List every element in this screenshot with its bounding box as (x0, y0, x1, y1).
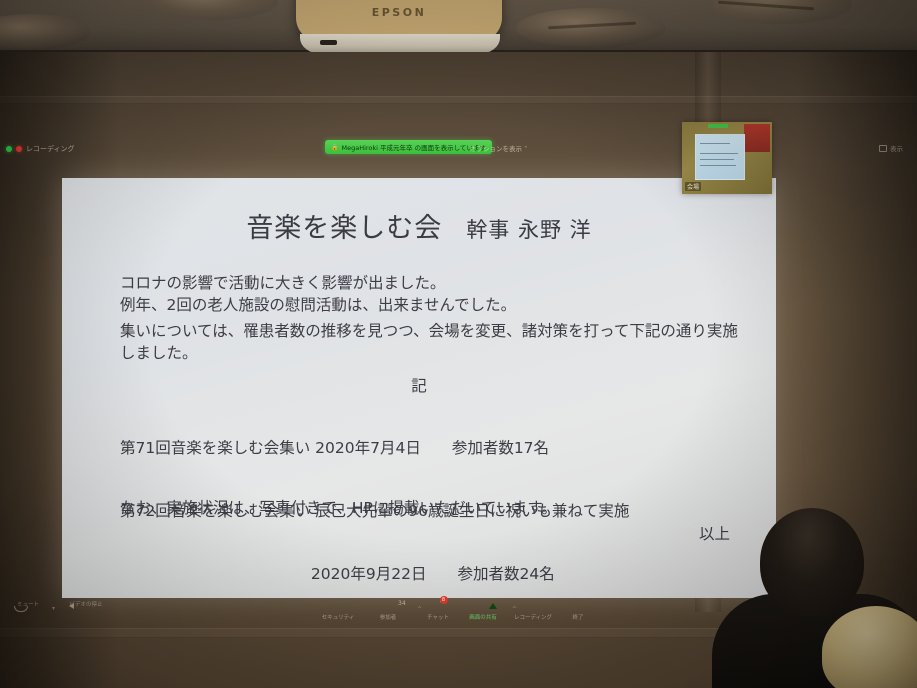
chat-unread-badge: 8 (440, 596, 448, 604)
security-button-label: セキュリティ (322, 615, 355, 621)
show-options-button[interactable]: オプションを表示 ˅ (470, 143, 527, 153)
chat-button-label: チャット (427, 615, 449, 621)
slide-title-main: 音楽を楽しむ会 (246, 213, 442, 244)
shield-icon (332, 600, 345, 613)
participants-button[interactable]: 参加者 (360, 600, 416, 622)
participants-button-label: 参加者 (380, 615, 397, 621)
share-screen-button[interactable]: 画面の共有 (455, 600, 511, 622)
mic-chevron-down-icon[interactable]: ▾ (52, 605, 55, 612)
list-item: 2020年9月22日 参加者数24名 (120, 564, 629, 585)
projector-lens (320, 40, 337, 45)
thumbnail-participant-name: 会場 (685, 182, 701, 191)
slide-title: 音楽を楽しむ会幹事 永野 洋 (62, 206, 776, 245)
participants-count: 34 (398, 600, 406, 607)
recording-indicator[interactable]: レコーディング (6, 144, 75, 154)
lock-icon: 🔒 (331, 144, 338, 151)
view-button-label: 表示 (890, 143, 903, 153)
slide-paragraph: コロナの影響で活動に大きく影響が出ました。 (120, 272, 746, 294)
thumbnail-background-object (744, 124, 770, 152)
participants-icon (382, 600, 395, 613)
audience-head (822, 606, 917, 688)
zoom-top-bar: レコーディング 🔒 MegaHiroki 平成元年卒 の画面を表示しています オ… (0, 137, 917, 161)
share-screen-button-label: 画面の共有 (469, 615, 497, 621)
thumbnail-inner-slide (695, 134, 745, 180)
security-button[interactable]: セキュリティ (310, 600, 366, 622)
presentation-slide: 音楽を楽しむ会幹事 永野 洋 コロナの影響で活動に大きく影響が出ました。 例年、… (62, 178, 776, 598)
projector-brand-label: EPSON (296, 6, 502, 19)
audience-member (822, 606, 917, 688)
stop-video-button[interactable]: ビデオの停止 (62, 600, 110, 608)
record-icon (527, 600, 540, 613)
slide-paragraph: 集いについては、罹患者数の推移を見つつ、会場を変更、諸対策を打って下記の通り実施… (120, 320, 746, 364)
chat-icon: 8 (432, 600, 445, 613)
screen-share-banner: 🔒 MegaHiroki 平成元年卒 の画面を表示しています (325, 140, 492, 154)
recording-label: レコーディング (26, 144, 75, 154)
slide-note: なお、実施状況は、写真付きで、HPに掲載いただいています。 (120, 496, 557, 518)
slide-content: 音楽を楽しむ会幹事 永野 洋 コロナの影響で活動に大きく影響が出ました。 例年、… (62, 178, 776, 598)
slide-ki-heading: 記 (62, 374, 776, 396)
ceiling-light-fixture (516, 8, 666, 48)
view-button[interactable]: 表示 (879, 143, 903, 153)
list-item: 第71回音楽を楽しむ会集い 2020年7月4日 参加者数17名 (120, 438, 629, 459)
end-icon (572, 600, 585, 613)
mute-button[interactable]: ミュート (4, 600, 52, 608)
end-meeting-button[interactable]: 終了 (550, 600, 606, 622)
participant-video-thumbnail[interactable]: 会場 (682, 122, 772, 194)
record-button-label: レコーディング (514, 615, 552, 621)
share-screen-icon (477, 600, 490, 613)
screen-share-banner-label: MegaHiroki 平成元年卒 の画面を表示しています (341, 142, 485, 152)
grid-view-icon (879, 145, 887, 152)
end-meeting-button-label: 終了 (572, 615, 583, 621)
thumbnail-green-marker (708, 124, 728, 128)
audience-head (760, 508, 864, 616)
slide-paragraph: 例年、2回の老人施設の慰問活動は、出来ませんでした。 (120, 294, 746, 316)
connection-status-icon (6, 146, 12, 152)
screenshot-root: EPSON レコーディング 🔒 MegaHiroki 平成元年卒 の画面を表示し… (0, 0, 917, 688)
slide-title-organizer: 幹事 永野 洋 (466, 218, 591, 242)
recording-dot-icon (16, 146, 22, 152)
